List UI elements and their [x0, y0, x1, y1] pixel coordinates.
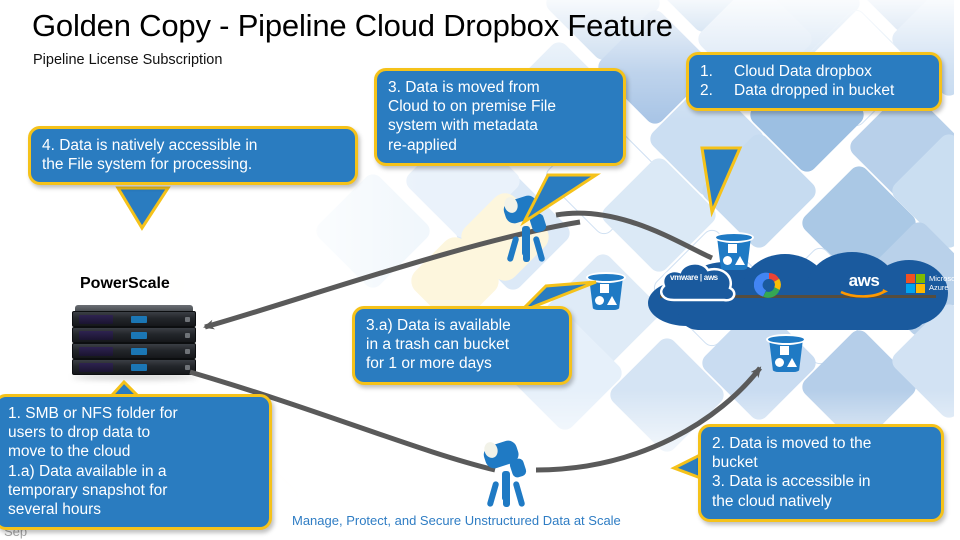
- bucket-icon-top: [714, 230, 754, 276]
- callout-line: move to the cloud: [8, 442, 259, 461]
- callout-item-number: 1.: [700, 62, 734, 81]
- callout-line: bucket: [712, 453, 931, 472]
- callout-bucket-cloud-native[interactable]: 2. Data is moved to the bucket 3. Data i…: [698, 424, 944, 522]
- footer-tagline: Manage, Protect, and Secure Unstructured…: [292, 513, 621, 528]
- array-unit: [72, 343, 196, 359]
- callout-file-system-accessible[interactable]: 4. Data is natively accessible in the Fi…: [28, 126, 358, 185]
- powerscale-array-icon: [72, 305, 196, 377]
- callout-line: 1. SMB or NFS folder for: [8, 404, 259, 423]
- aws-wordmark: aws: [836, 272, 892, 289]
- multi-cloud-graphic: vmware | aws aws: [648, 250, 948, 332]
- background-right-margin: [954, 0, 960, 540]
- callout-line: users to drop data to: [8, 423, 259, 442]
- callout-cloud-dropbox[interactable]: 1.Cloud Data dropbox 2.Data dropped in b…: [686, 52, 942, 111]
- callout-line: the File system for processing.: [42, 155, 345, 174]
- callout-line: 3. Data is accessible in: [712, 472, 931, 491]
- bucket-icon-trash: [586, 270, 626, 316]
- callout-line: temporary snapshot for: [8, 481, 259, 500]
- callout-list-item: 2.Data dropped in bucket: [700, 81, 929, 100]
- callout-line: Cloud to on premise File: [388, 97, 613, 116]
- callout-list-item: 1.Cloud Data dropbox: [700, 62, 929, 81]
- callout-line: 1.a) Data available in a: [8, 462, 259, 481]
- callout-line: 2. Data is moved to the: [712, 434, 931, 453]
- microsoft-azure-logo: MicrosoftAzure: [906, 272, 960, 300]
- callout-line: in a trash can bucket: [366, 335, 559, 354]
- callout-line: 4. Data is natively accessible in: [42, 136, 345, 155]
- callout-item-text: Cloud Data dropbox: [734, 63, 872, 80]
- callout-cloud-to-onprem[interactable]: 3. Data is moved from Cloud to on premis…: [374, 68, 626, 166]
- bucket-icon-bottom: [766, 332, 806, 378]
- callout-trash-can-bucket[interactable]: 3.a) Data is available in a trash can bu…: [352, 306, 572, 385]
- aws-logo: aws: [836, 272, 892, 302]
- array-unit: [72, 311, 196, 327]
- callout-item-number: 2.: [700, 81, 734, 100]
- callout-smb-nfs-folder[interactable]: 1. SMB or NFS folder for users to drop d…: [0, 394, 272, 530]
- google-cloud-logo: [754, 270, 784, 300]
- page-subtitle: Pipeline License Subscription: [33, 52, 222, 68]
- callout-item-text: Data dropped in bucket: [734, 82, 894, 99]
- callout-line: 3.a) Data is available: [366, 316, 559, 335]
- microsoft-grid-icon: [906, 274, 926, 294]
- vmware-aws-label: vmware | aws: [670, 273, 718, 282]
- telescope-icon-top: [498, 192, 560, 264]
- slide-canvas: Golden Copy - Pipeline Cloud Dropbox Fea…: [0, 0, 960, 540]
- callout-line: for 1 or more days: [366, 354, 559, 373]
- page-title: Golden Copy - Pipeline Cloud Dropbox Fea…: [32, 8, 673, 44]
- callout-line: several hours: [8, 500, 259, 519]
- powerscale-label: PowerScale: [80, 275, 170, 293]
- callout-line: the cloud natively: [712, 492, 931, 511]
- callout-line: re-applied: [388, 136, 613, 155]
- callout-line: system with metadata: [388, 116, 613, 135]
- callout-line: 3. Data is moved from: [388, 78, 613, 97]
- array-unit: [72, 327, 196, 343]
- azure-label: MicrosoftAzure: [929, 274, 959, 293]
- telescope-icon-bottom: [478, 437, 540, 509]
- array-unit: [72, 359, 196, 375]
